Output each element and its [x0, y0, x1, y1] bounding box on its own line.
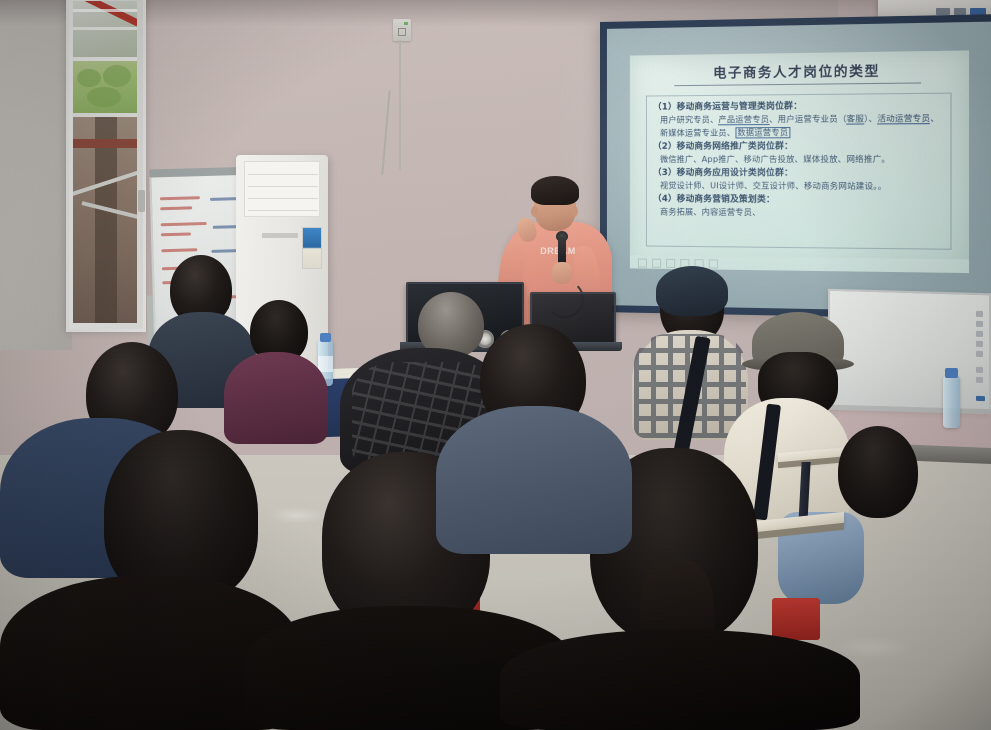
window-handle[interactable]: [138, 190, 145, 212]
whiteboard-power-icon[interactable]: [976, 396, 985, 401]
audience-head: [838, 426, 918, 518]
window-mullion: [73, 57, 137, 61]
reading-view-icon[interactable]: [666, 259, 675, 268]
stool[interactable]: [772, 598, 820, 640]
projection-screen: 电子商务人才岗位的类型 （1）移动商务运营与管理类岗位群： 用户研究专员、产品运…: [600, 14, 991, 320]
audience-body-gray: [436, 406, 632, 554]
audience-body-foreground: [500, 630, 860, 730]
slide-title: 电子商务人才岗位的类型: [630, 59, 969, 83]
whiteboard-button-icon[interactable]: [976, 351, 983, 357]
window: [66, 0, 146, 332]
interactive-whiteboard[interactable]: [828, 289, 991, 412]
window-mullion-lower: [73, 113, 137, 117]
whiteboard-button-icon[interactable]: [976, 341, 983, 347]
energy-label: [302, 227, 322, 269]
ac-brand-logo: [262, 233, 298, 238]
presenter-hair: [531, 176, 579, 205]
slide-section-heading-2: （2）移动商务网络推广类岗位群：: [653, 140, 944, 154]
slide-body: （1）移动商务运营与管理类岗位群： 用户研究专员、产品运营专员、用户运营专业员（…: [646, 93, 952, 250]
presenter-ear: [571, 206, 578, 217]
bottle-cap: [945, 368, 958, 378]
window-pane-bottom: [73, 117, 137, 323]
whiteboard-button-icon[interactable]: [976, 367, 983, 373]
whiteboard-button-icon[interactable]: [976, 311, 983, 317]
slide-title-rule: [674, 82, 921, 86]
bottle-cap: [320, 333, 331, 342]
powerpoint-slide: 电子商务人才岗位的类型 （1）移动商务运营与管理类岗位群： 用户研究专员、产品运…: [630, 50, 969, 273]
whiteboard-button-icon[interactable]: [976, 377, 983, 383]
slide-section-body-3: 视觉设计师、UI设计师、交互设计师、移动商务网站建设。。: [653, 180, 944, 194]
outlet-led-icon: [404, 22, 408, 25]
audience-body: [224, 352, 328, 444]
slide-view-icon[interactable]: [638, 258, 647, 267]
slide-section-body-2: 微信推广、App推广、移动广告投放、媒体投放、网络推广。: [653, 153, 944, 166]
water-bottle[interactable]: [943, 376, 960, 428]
slide-section-heading-4: （4）移动商务营销及策划类：: [653, 193, 944, 208]
left-wall: [0, 0, 72, 350]
window-pane-middle: [73, 61, 137, 115]
whiteboard-button-icon[interactable]: [976, 331, 983, 337]
dark-cap: [656, 266, 728, 316]
bottle-label: [318, 356, 333, 372]
ac-vent-grille: [244, 161, 320, 217]
fit-slide-icon[interactable]: [709, 259, 718, 268]
presenter-ear: [531, 206, 538, 217]
slide-section-body-4: 商务拓展、内容运营专员、: [653, 206, 944, 221]
slide-section-body-1: 用户研究专员、产品运营专员、用户运营专业员（客服）、活动运营专员、新媒体运营专业…: [653, 113, 944, 141]
classroom-photo: 电子商务人才岗位的类型 （1）移动商务运营与管理类岗位群： 用户研究专员、产品运…: [0, 0, 991, 730]
whiteboard-button-icon[interactable]: [976, 321, 983, 327]
power-cable: [399, 40, 401, 170]
slide-section-heading-3: （3）移动商务应用设计类岗位群：: [653, 167, 944, 181]
projector-port: [936, 8, 950, 15]
wall-power-outlet[interactable]: [393, 19, 411, 41]
outline-view-icon[interactable]: [652, 259, 661, 268]
window-pane-top: [73, 1, 137, 59]
